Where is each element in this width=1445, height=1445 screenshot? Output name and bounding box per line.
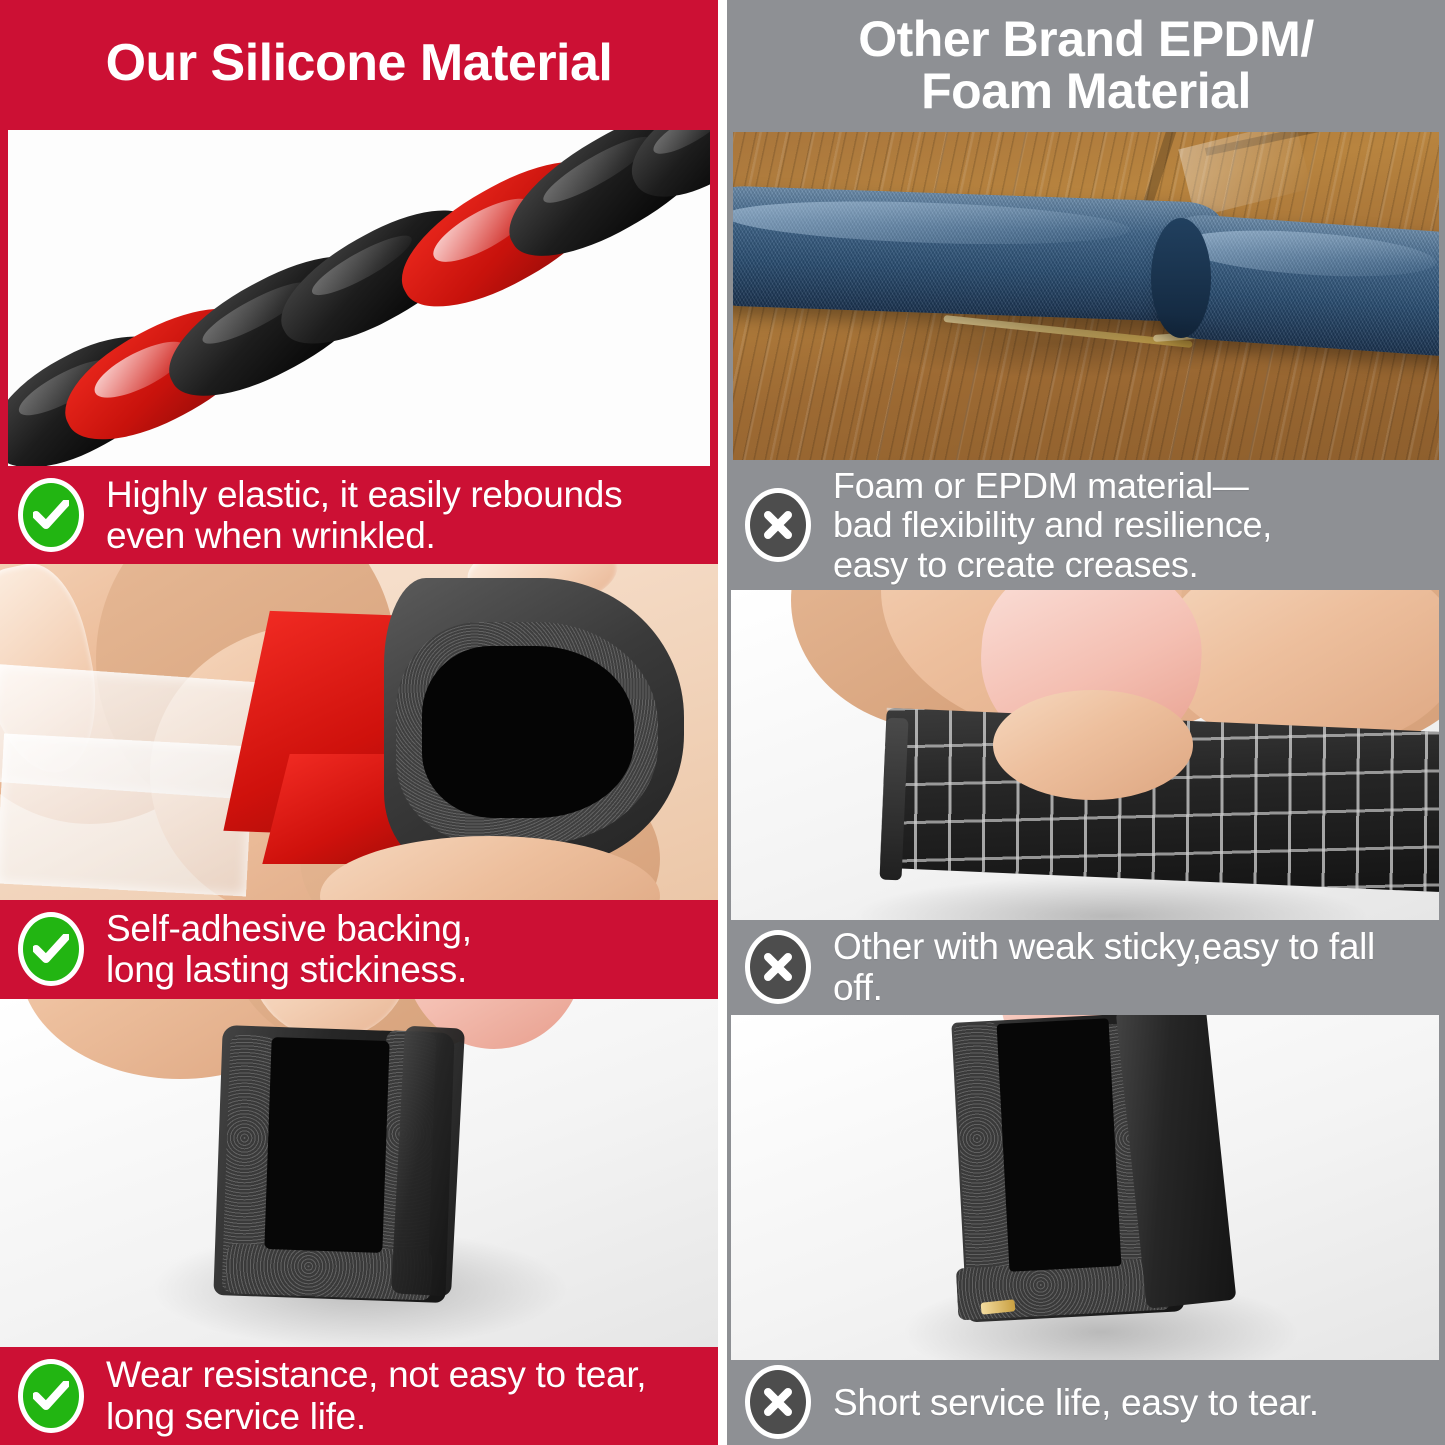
caption-bar-wear: Wear resistance, not easy to tear, long … bbox=[0, 1347, 718, 1445]
caption-text-short-life: Short service life, easy to tear. bbox=[833, 1382, 1319, 1423]
our-silicone-header: Our Silicone Material bbox=[0, 0, 718, 130]
cross-icon bbox=[745, 930, 811, 1004]
caption-text-weak-sticky: Other with weak sticky,easy to fall off. bbox=[833, 926, 1429, 1009]
caption-text-wear: Wear resistance, not easy to tear, long … bbox=[106, 1354, 646, 1437]
cross-icon bbox=[745, 1365, 811, 1439]
our-silicone-column: Our Silicone Material Highly elastic, it… bbox=[0, 0, 718, 1445]
caption-bar-elastic: Highly elastic, it easily rebounds even … bbox=[0, 466, 718, 564]
check-icon bbox=[18, 1359, 84, 1433]
twisted-strip-artwork bbox=[8, 130, 710, 466]
caption-text-foam-flexibility: Foam or EPDM material— bad flexibility a… bbox=[833, 466, 1272, 585]
caption-bar-weak-sticky: Other with weak sticky,easy to fall off. bbox=[727, 920, 1445, 1014]
caption-text-adhesive: Self-adhesive backing, long lasting stic… bbox=[106, 908, 472, 991]
other-brand-header: Other Brand EPDM/ Foam Material bbox=[727, 0, 1445, 132]
check-icon bbox=[18, 912, 84, 986]
d-shape-silicone-seal-held-photo bbox=[0, 999, 718, 1347]
caption-bar-adhesive: Self-adhesive backing, long lasting stic… bbox=[0, 900, 718, 998]
creased-blue-foam-strip-on-wood-floor-photo bbox=[733, 132, 1439, 460]
column-divider bbox=[718, 0, 727, 1445]
other-brand-header-line1: Other Brand EPDM/ bbox=[858, 13, 1313, 65]
other-brand-header-line2: Foam Material bbox=[858, 65, 1313, 117]
caption-bar-foam-flexibility: Foam or EPDM material— bad flexibility a… bbox=[727, 460, 1445, 590]
twisted-silicone-strip-photo bbox=[8, 130, 710, 466]
material-comparison-infographic: Our Silicone Material Highly elastic, it… bbox=[0, 0, 1445, 1445]
other-brand-column: Other Brand EPDM/ Foam Material bbox=[727, 0, 1445, 1445]
check-icon bbox=[18, 478, 84, 552]
caption-text-elastic: Highly elastic, it easily rebounds even … bbox=[106, 474, 622, 557]
cross-icon bbox=[745, 488, 811, 562]
torn-u-channel-foam-seal-photo bbox=[731, 1015, 1439, 1360]
caption-bar-short-life: Short service life, easy to tear. bbox=[727, 1360, 1445, 1445]
hand-peeling-adhesive-liner-photo bbox=[0, 564, 718, 900]
thumb-pressing-foam-tape-mesh-photo bbox=[731, 590, 1439, 920]
